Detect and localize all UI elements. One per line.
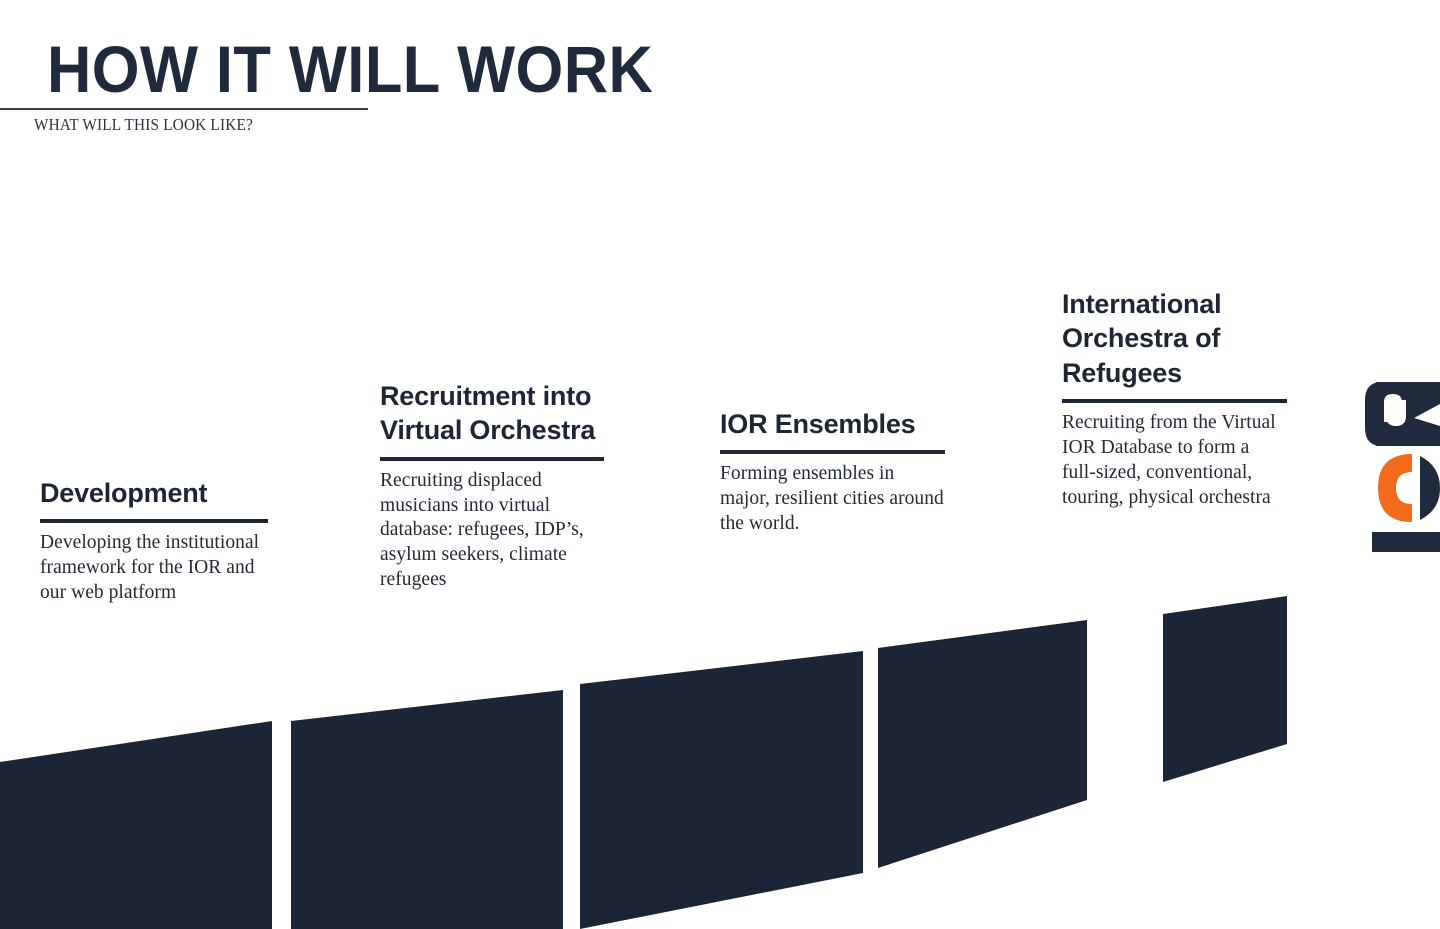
ior-logo [1362, 378, 1440, 558]
slide-header: HOW IT WILL WORK WHAT WILL THIS LOOK LIK… [0, 0, 1440, 150]
block-1 [0, 721, 272, 929]
block-4 [878, 620, 1087, 868]
logo-letter-o [1378, 454, 1440, 522]
block-5 [1163, 596, 1287, 782]
step-divider [380, 457, 604, 461]
logo-letter-i [1372, 532, 1440, 552]
block-2 [291, 690, 563, 929]
step-ensembles: IOR Ensembles Forming ensembles in major… [720, 407, 945, 537]
step-divider [720, 450, 945, 454]
slide-canvas: HOW IT WILL WORK WHAT WILL THIS LOOK LIK… [0, 0, 1440, 929]
step-divider [40, 519, 268, 523]
step-heading: IOR Ensembles [720, 407, 945, 441]
block-3 [580, 651, 863, 929]
step-heading: Recruitment into Virtual Orchestra [380, 379, 604, 448]
logo-letter-r [1365, 382, 1440, 446]
step-international-orchestra: International Orchestra of Refugees Recr… [1062, 287, 1287, 511]
step-divider [1062, 399, 1287, 403]
page-subtitle: WHAT WILL THIS LOOK LIKE? [34, 115, 253, 135]
page-title: HOW IT WILL WORK [47, 36, 653, 102]
title-divider [0, 108, 368, 110]
step-heading: International Orchestra of Refugees [1062, 287, 1287, 390]
step-body: Recruiting from the Virtual IOR Database… [1062, 411, 1287, 511]
step-body: Forming ensembles in major, resilient ci… [720, 462, 945, 537]
step-recruitment: Recruitment into Virtual Orchestra Recru… [380, 379, 604, 593]
step-body: Developing the institutional framework f… [40, 531, 268, 606]
step-body: Recruiting displaced musicians into virt… [380, 469, 604, 594]
step-heading: Development [40, 476, 268, 510]
step-development: Development Developing the institutional… [40, 476, 268, 606]
